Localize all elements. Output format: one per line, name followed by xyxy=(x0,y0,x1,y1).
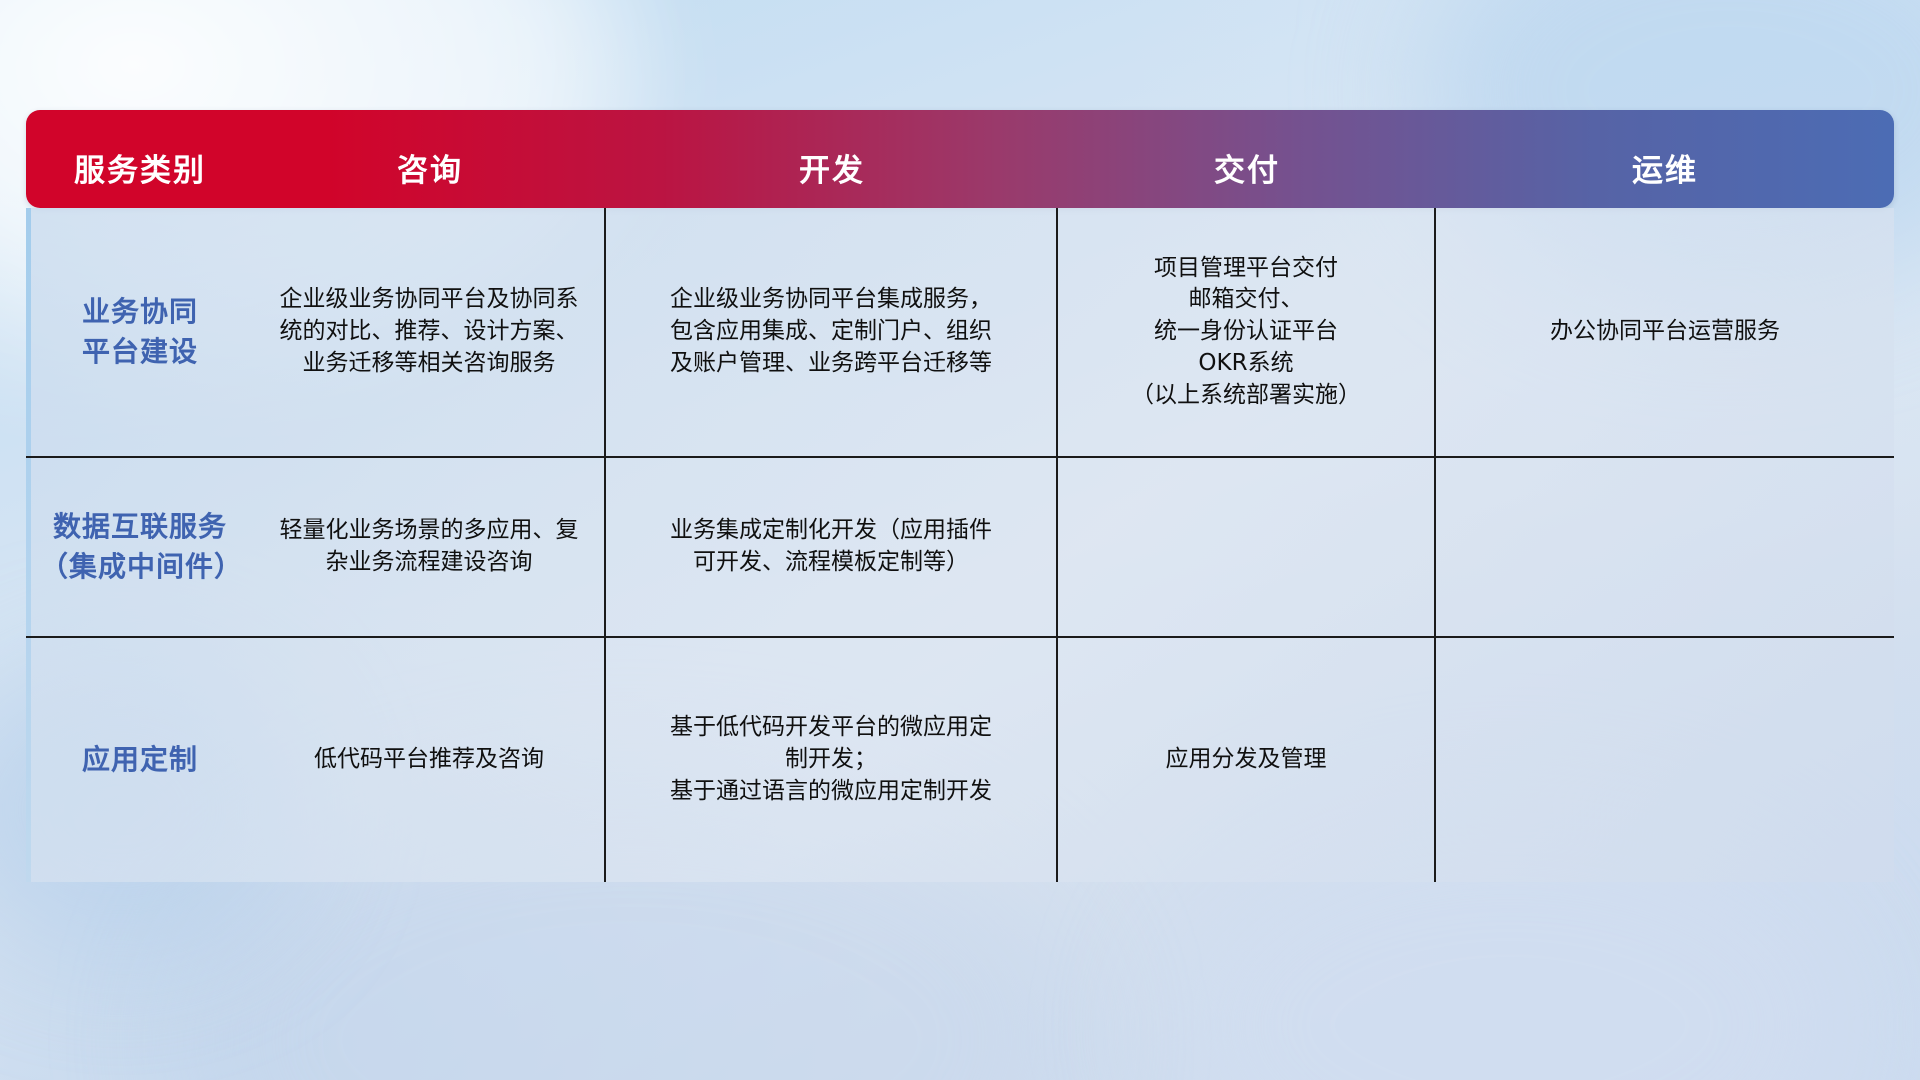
table-row: 数据互联服务 （集成中间件） 轻量化业务场景的多应用、复 杂业务流程建设咨询 业… xyxy=(26,456,1894,636)
row-label: 业务协同 平台建设 xyxy=(26,208,254,456)
cell-development: 企业级业务协同平台集成服务， 包含应用集成、定制门户、组织 及账户管理、业务跨平… xyxy=(606,208,1058,456)
cell-consulting: 轻量化业务场景的多应用、复 杂业务流程建设咨询 xyxy=(254,458,606,636)
cell-development: 基于低代码开发平台的微应用定 制开发； 基于通过语言的微应用定制开发 xyxy=(606,638,1058,882)
cell-operations: 办公协同平台运营服务 xyxy=(1436,208,1894,456)
row-label: 数据互联服务 （集成中间件） xyxy=(26,458,254,636)
row-label: 应用定制 xyxy=(26,638,254,882)
column-header-operations: 运维 xyxy=(1436,145,1894,208)
column-header-category: 服务类别 xyxy=(26,145,254,208)
cell-consulting: 低代码平台推荐及咨询 xyxy=(254,638,606,882)
cell-development: 业务集成定制化开发（应用插件 可开发、流程模板定制等） xyxy=(606,458,1058,636)
cell-delivery xyxy=(1058,458,1436,636)
table-row: 应用定制 低代码平台推荐及咨询 基于低代码开发平台的微应用定 制开发； 基于通过… xyxy=(26,636,1894,882)
service-matrix-table: 服务类别 咨询 开发 交付 运维 业务协同 平台建设 企业级业务协同平台及协同系… xyxy=(26,110,1894,780)
column-header-development: 开发 xyxy=(606,145,1058,208)
slide-canvas: 服务类别 咨询 开发 交付 运维 业务协同 平台建设 企业级业务协同平台及协同系… xyxy=(0,0,1920,1080)
column-header-delivery: 交付 xyxy=(1058,145,1436,208)
cell-operations xyxy=(1436,638,1894,882)
cell-consulting: 企业级业务协同平台及协同系 统的对比、推荐、设计方案、 业务迁移等相关咨询服务 xyxy=(254,208,606,456)
table-row: 业务协同 平台建设 企业级业务协同平台及协同系 统的对比、推荐、设计方案、 业务… xyxy=(26,208,1894,456)
cell-delivery: 项目管理平台交付 邮箱交付、 统一身份认证平台 OKR系统 （以上系统部署实施） xyxy=(1058,208,1436,456)
cell-operations xyxy=(1436,458,1894,636)
table-header-row: 服务类别 咨询 开发 交付 运维 xyxy=(26,110,1894,208)
column-header-consulting: 咨询 xyxy=(254,145,606,208)
table-body: 业务协同 平台建设 企业级业务协同平台及协同系 统的对比、推荐、设计方案、 业务… xyxy=(26,208,1894,882)
cell-delivery: 应用分发及管理 xyxy=(1058,638,1436,882)
